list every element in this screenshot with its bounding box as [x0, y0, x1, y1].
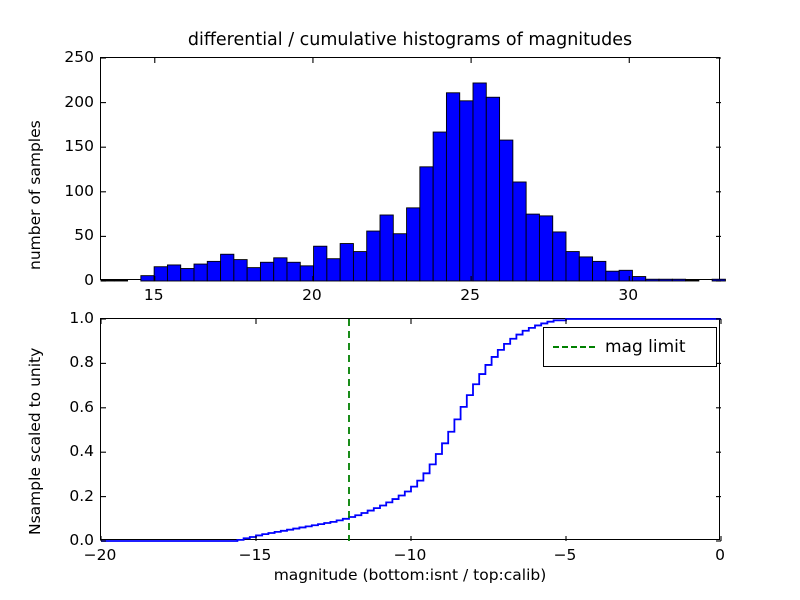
- top-ytick-250: 250: [54, 48, 94, 66]
- histogram-bar: [486, 97, 499, 281]
- top-ytick-0: 0: [54, 271, 94, 289]
- bottom-xtick--10: −10: [394, 546, 427, 564]
- histogram-bar: [287, 262, 300, 281]
- histogram-bar: [646, 279, 659, 281]
- top-xtick-30: 30: [618, 286, 638, 304]
- histogram-plot: [101, 58, 721, 281]
- bottom-ytick-0.2: 0.2: [48, 487, 94, 505]
- bottom-xtick--20: −20: [84, 546, 117, 564]
- histogram-bar: [367, 231, 380, 281]
- histogram-bar: [194, 264, 207, 281]
- bottom-xtick--5: −5: [554, 546, 577, 564]
- top-ytick-50: 50: [54, 226, 94, 244]
- histogram-bar: [274, 258, 287, 281]
- histogram-bar: [154, 267, 167, 281]
- histogram-bar: [632, 277, 645, 281]
- histogram-bar: [539, 216, 552, 281]
- top-ytick-200: 200: [54, 93, 94, 111]
- top-xtick-20: 20: [302, 286, 322, 304]
- histogram-bar: [579, 257, 592, 281]
- histogram-bar: [672, 279, 685, 281]
- histogram-bar: [420, 167, 433, 281]
- page-title: differential / cumulative histograms of …: [100, 30, 720, 50]
- figure-canvas: differential / cumulative histograms of …: [0, 0, 800, 600]
- histogram-bar: [513, 182, 526, 281]
- histogram-bar: [473, 83, 486, 281]
- mag-limit-line-icon: [553, 346, 595, 348]
- histogram-bar: [393, 234, 406, 281]
- bottom-panel-ylabel: Nsample scaled to unity: [26, 348, 44, 535]
- histogram-bar: [446, 93, 459, 281]
- histogram-bar: [566, 252, 579, 281]
- top-xtick-15: 15: [144, 286, 164, 304]
- bottom-ytick-1.0: 1.0: [48, 309, 94, 327]
- bottom-panel-xlabel: magnitude (bottom:isnt / top:calib): [100, 566, 720, 584]
- bottom-xtick-0: 0: [715, 546, 725, 564]
- histogram-bar: [353, 252, 366, 281]
- histogram-bar: [314, 246, 327, 281]
- histogram-bar: [247, 268, 260, 281]
- bottom-xtick--15: −15: [239, 546, 272, 564]
- top-panel-ylabel: number of samples: [26, 120, 44, 270]
- top-xtick-25: 25: [460, 286, 480, 304]
- histogram-bar: [221, 254, 234, 281]
- histogram-bar: [686, 280, 699, 281]
- bottom-ytick-0.4: 0.4: [48, 442, 94, 460]
- histogram-bar: [433, 132, 446, 281]
- top-ytick-150: 150: [54, 137, 94, 155]
- histogram-bar: [260, 262, 273, 281]
- top-ytick-100: 100: [54, 182, 94, 200]
- histogram-bar: [606, 271, 619, 281]
- histogram-bar: [407, 208, 420, 281]
- histogram-bar: [460, 101, 473, 281]
- histogram-bar: [167, 265, 180, 281]
- histogram-bar: [234, 260, 247, 281]
- histogram-bar: [659, 279, 672, 281]
- histogram-bar: [593, 261, 606, 281]
- bottom-ytick-0.8: 0.8: [48, 353, 94, 371]
- histogram-bar: [380, 215, 393, 281]
- histogram-bar: [619, 270, 632, 281]
- histogram-bar: [141, 276, 154, 281]
- top-panel-axes: [100, 57, 720, 280]
- histogram-bar: [114, 280, 127, 281]
- bottom-ytick-0.6: 0.6: [48, 398, 94, 416]
- histogram-bar: [500, 140, 513, 281]
- histogram-bar: [300, 266, 313, 281]
- histogram-bar: [207, 261, 220, 281]
- histogram-bar: [327, 259, 340, 281]
- legend-label-mag-limit: mag limit: [605, 337, 686, 357]
- histogram-bar: [526, 214, 539, 281]
- histogram-bar: [340, 244, 353, 281]
- histogram-bar: [553, 232, 566, 281]
- legend: mag limit: [543, 327, 717, 367]
- histogram-bar: [181, 269, 194, 281]
